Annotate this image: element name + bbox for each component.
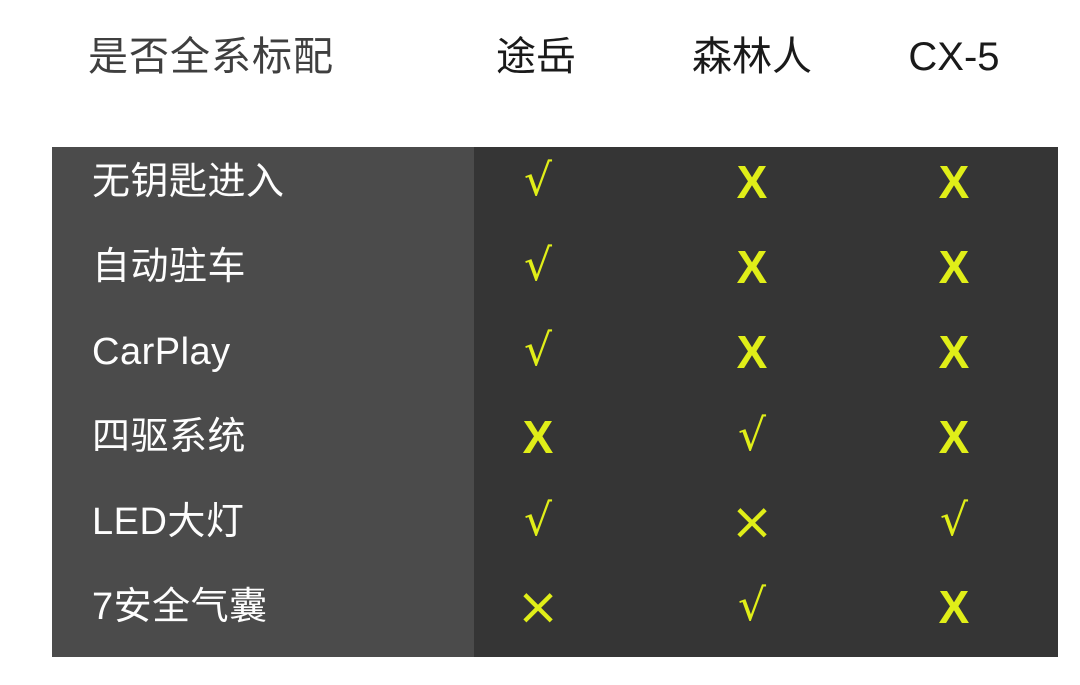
check-icon: √ bbox=[738, 410, 766, 461]
cell-model-1: √ bbox=[440, 232, 636, 302]
cross-letter-icon: X bbox=[939, 241, 970, 293]
cell-model-3: X bbox=[856, 147, 1052, 217]
table-row: LED大灯 √ × √ bbox=[52, 487, 1058, 557]
cell-model-1: X bbox=[440, 402, 636, 472]
cell-model-3: √ bbox=[856, 487, 1052, 557]
table-header-row: 是否全系标配 途岳 森林人 CX-5 bbox=[0, 22, 1080, 92]
row-label: 自动驻车 bbox=[92, 232, 462, 302]
cross-letter-icon: X bbox=[737, 156, 768, 208]
column-header-model-3: CX-5 bbox=[856, 22, 1052, 92]
cell-model-3: X bbox=[856, 232, 1052, 302]
cross-letter-icon: X bbox=[939, 326, 970, 378]
table-row: CarPlay √ X X bbox=[52, 317, 1058, 387]
table-body: 无钥匙进入 √ X X 自动驻车 √ X X CarPlay √ X X 四驱系… bbox=[52, 147, 1058, 657]
table-row: 无钥匙进入 √ X X bbox=[52, 147, 1058, 217]
cell-model-2: X bbox=[654, 317, 850, 387]
cross-letter-icon: X bbox=[737, 241, 768, 293]
table-row: 四驱系统 X √ X bbox=[52, 402, 1058, 472]
check-icon: √ bbox=[524, 240, 552, 291]
check-icon: √ bbox=[524, 495, 552, 546]
cell-model-1: √ bbox=[440, 317, 636, 387]
cell-model-2: × bbox=[654, 487, 850, 557]
check-icon: √ bbox=[940, 495, 968, 546]
cross-letter-icon: X bbox=[939, 156, 970, 208]
table-row: 7安全气囊 × √ X bbox=[52, 572, 1058, 642]
multiply-icon: × bbox=[730, 492, 774, 552]
column-header-model-2: 森林人 bbox=[654, 22, 850, 92]
check-icon: √ bbox=[524, 325, 552, 376]
row-label: 四驱系统 bbox=[92, 402, 462, 472]
cell-model-2: √ bbox=[654, 402, 850, 472]
row-label: 7安全气囊 bbox=[92, 572, 462, 642]
column-header-model-1: 途岳 bbox=[438, 22, 634, 92]
check-icon: √ bbox=[524, 155, 552, 206]
cross-letter-icon: X bbox=[939, 581, 970, 633]
row-label: CarPlay bbox=[92, 317, 462, 387]
table-row: 自动驻车 √ X X bbox=[52, 232, 1058, 302]
cell-model-2: √ bbox=[654, 572, 850, 642]
cell-model-2: X bbox=[654, 147, 850, 217]
cross-letter-icon: X bbox=[523, 411, 554, 463]
comparison-panel: 无钥匙进入 √ X X 自动驻车 √ X X CarPlay √ X X 四驱系… bbox=[52, 147, 1058, 657]
cell-model-1: × bbox=[440, 572, 636, 642]
cell-model-2: X bbox=[654, 232, 850, 302]
page-title: 是否全系标配 bbox=[88, 22, 448, 92]
row-label: 无钥匙进入 bbox=[92, 147, 462, 217]
cell-model-3: X bbox=[856, 317, 1052, 387]
cell-model-3: X bbox=[856, 402, 1052, 472]
row-label: LED大灯 bbox=[92, 487, 462, 557]
comparison-table-page: 是否全系标配 途岳 森林人 CX-5 无钥匙进入 √ X X 自动驻车 √ X … bbox=[0, 0, 1080, 685]
cross-letter-icon: X bbox=[939, 411, 970, 463]
cross-letter-icon: X bbox=[737, 326, 768, 378]
multiply-icon: × bbox=[516, 577, 560, 637]
cell-model-1: √ bbox=[440, 487, 636, 557]
cell-model-1: √ bbox=[440, 147, 636, 217]
check-icon: √ bbox=[738, 580, 766, 631]
cell-model-3: X bbox=[856, 572, 1052, 642]
